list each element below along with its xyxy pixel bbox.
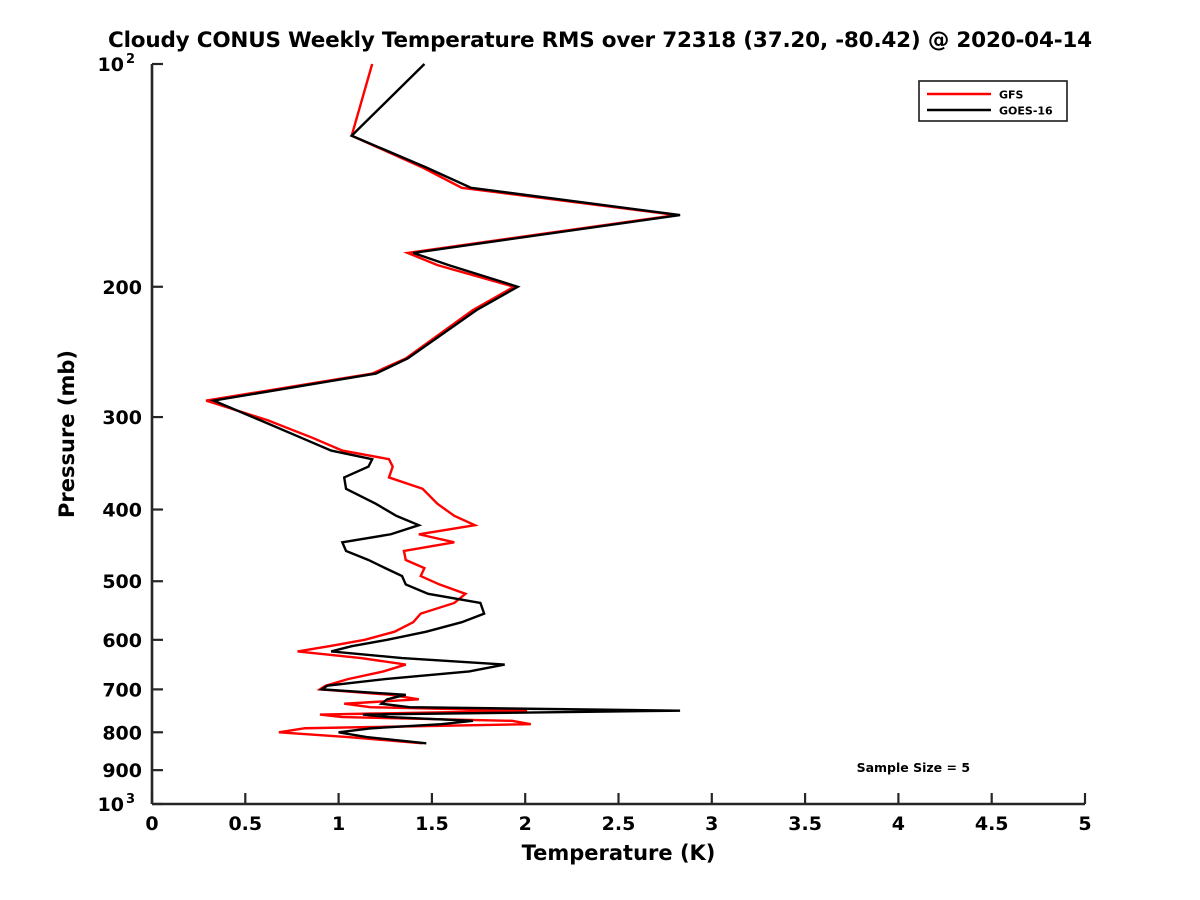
y-tick-label: 800 bbox=[102, 722, 142, 744]
y-axis-label: Pressure (mb) bbox=[55, 350, 79, 518]
x-axis-label: Temperature (K) bbox=[522, 841, 716, 865]
x-axis-tick-labels: 00.511.522.533.544.55 bbox=[145, 813, 1091, 835]
svg-text:10: 10 bbox=[98, 54, 124, 76]
x-tick-label: 4 bbox=[892, 813, 905, 835]
x-tick-label: 3 bbox=[705, 813, 718, 835]
x-tick-label: 0 bbox=[145, 813, 158, 835]
y-tick-label: 400 bbox=[102, 500, 142, 522]
x-axis-ticks bbox=[152, 793, 1085, 804]
y-tick-label: 102 bbox=[98, 52, 136, 76]
series-line-goes-16 bbox=[214, 64, 681, 743]
y-tick-label: 500 bbox=[102, 571, 142, 593]
x-tick-label: 1.5 bbox=[415, 813, 449, 835]
series-line-gfs bbox=[206, 64, 676, 743]
chart-figure: Cloudy CONUS Weekly Temperature RMS over… bbox=[0, 0, 1200, 900]
sample-size-annotation: Sample Size = 5 bbox=[857, 760, 970, 775]
x-tick-label: 4.5 bbox=[975, 813, 1009, 835]
svg-text:3: 3 bbox=[126, 792, 135, 807]
chart-annotations: Sample Size = 5 bbox=[857, 760, 970, 775]
y-tick-label: 103 bbox=[98, 792, 136, 816]
y-tick-label: 900 bbox=[102, 760, 142, 782]
chart-legend: GFSGOES-16 bbox=[919, 81, 1067, 121]
x-tick-label: 2.5 bbox=[602, 813, 636, 835]
x-tick-label: 0.5 bbox=[228, 813, 262, 835]
y-tick-label: 200 bbox=[102, 277, 142, 299]
legend-label-goes-16: GOES-16 bbox=[999, 105, 1053, 118]
x-tick-label: 5 bbox=[1078, 813, 1091, 835]
plot-canvas: 102200300400500600700800900103 00.511.52… bbox=[0, 0, 1200, 900]
y-axis-ticks bbox=[152, 64, 163, 804]
y-tick-label: 300 bbox=[102, 407, 142, 429]
y-tick-label: 600 bbox=[102, 630, 142, 652]
y-axis-tick-labels: 102200300400500600700800900103 bbox=[98, 52, 142, 816]
x-tick-label: 1 bbox=[332, 813, 345, 835]
x-tick-label: 2 bbox=[519, 813, 532, 835]
data-series-group bbox=[206, 64, 680, 743]
svg-text:2: 2 bbox=[126, 52, 135, 67]
x-tick-label: 3.5 bbox=[788, 813, 822, 835]
y-tick-label: 700 bbox=[102, 679, 142, 701]
svg-text:10: 10 bbox=[98, 794, 124, 816]
legend-label-gfs: GFS bbox=[999, 89, 1024, 102]
